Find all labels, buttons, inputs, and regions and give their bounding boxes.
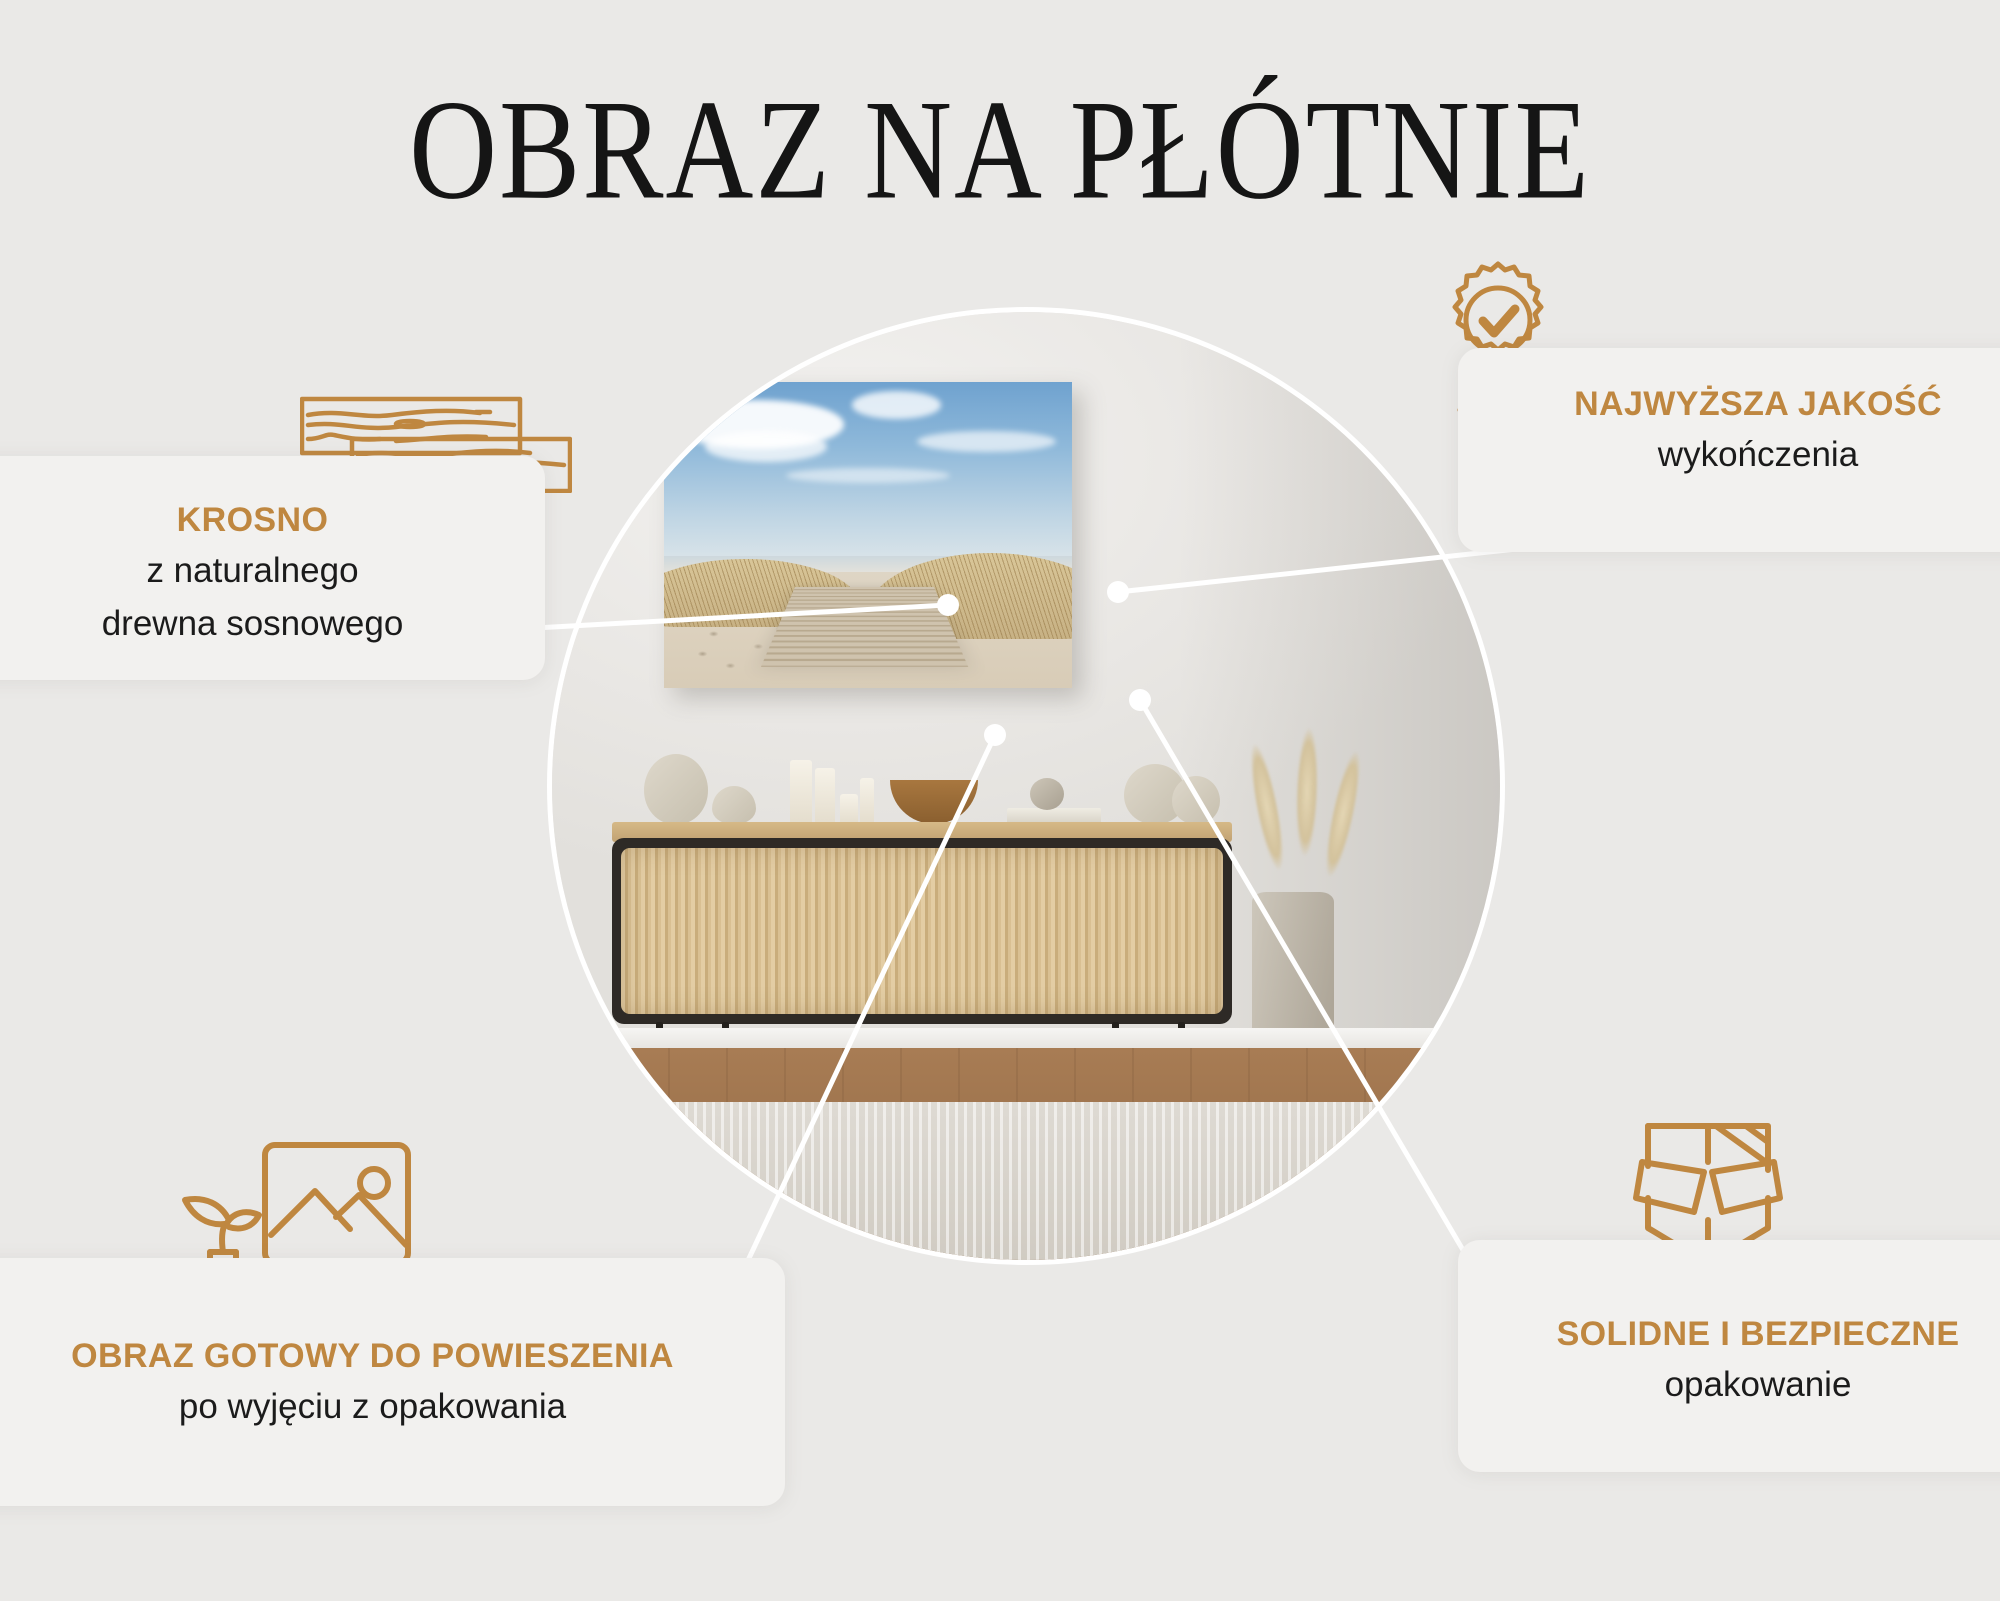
card-powieszenia-body: OBRAZ GOTOWY DO POWIESZENIA po wyjęciu z… xyxy=(0,1336,785,1429)
room-scene-circle xyxy=(552,312,1500,1260)
card-krosno-subtitle-line2: drewna sosnowego xyxy=(0,603,545,646)
baseboard xyxy=(552,1028,1500,1050)
card-jakosc-body: NAJWYŻSZA JAKOŚĆ wykończenia xyxy=(1458,384,2000,477)
candle xyxy=(790,760,812,824)
sideboard xyxy=(612,822,1232,1052)
ceramic-vase xyxy=(1172,776,1220,824)
infographic-root: OBRAZ NA PŁÓTNIE xyxy=(0,0,2000,1601)
card-krosno-title: KROSNO xyxy=(0,500,545,540)
cloud xyxy=(786,468,949,483)
card-opakowanie-title: SOLIDNE I BEZPIECZNE xyxy=(1458,1314,2000,1354)
card-opakowanie: SOLIDNE I BEZPIECZNE opakowanie xyxy=(1458,1240,2000,1472)
card-powieszenia-title: OBRAZ GOTOWY DO POWIESZENIA xyxy=(0,1336,785,1376)
card-jakosc-title: NAJWYŻSZA JAKOŚĆ xyxy=(1458,384,2000,424)
card-krosno-body: KROSNO z naturalnego drewna sosnowego xyxy=(0,500,545,645)
area-rug xyxy=(552,1102,1500,1260)
sideboard-fluted-doors xyxy=(621,848,1223,1014)
card-powieszenia: OBRAZ GOTOWY DO POWIESZENIA po wyjęciu z… xyxy=(0,1258,785,1506)
card-krosno: KROSNO z naturalnego drewna sosnowego xyxy=(0,456,545,680)
candle xyxy=(860,778,874,824)
decor-stone xyxy=(1030,778,1064,810)
card-krosno-subtitle-line1: z naturalnego xyxy=(0,550,545,593)
ceramic-vase xyxy=(644,754,708,824)
ceramic-bowl-small xyxy=(712,786,756,824)
candle xyxy=(815,768,835,824)
page-title: OBRAZ NA PŁÓTNIE xyxy=(10,78,1990,221)
card-opakowanie-body: SOLIDNE I BEZPIECZNE opakowanie xyxy=(1458,1314,2000,1407)
boardwalk xyxy=(760,587,967,667)
card-jakosc-subtitle-line1: wykończenia xyxy=(1458,434,2000,477)
candle xyxy=(840,794,858,824)
cloud xyxy=(852,391,942,419)
card-opakowanie-subtitle-line1: opakowanie xyxy=(1458,1364,2000,1407)
cloud xyxy=(705,431,827,462)
room-photo xyxy=(552,312,1500,1260)
canvas-artwork xyxy=(664,382,1072,688)
card-powieszenia-subtitle-line1: po wyjęciu z opakowania xyxy=(0,1386,785,1429)
card-jakosc: NAJWYŻSZA JAKOŚĆ wykończenia xyxy=(1458,348,2000,552)
